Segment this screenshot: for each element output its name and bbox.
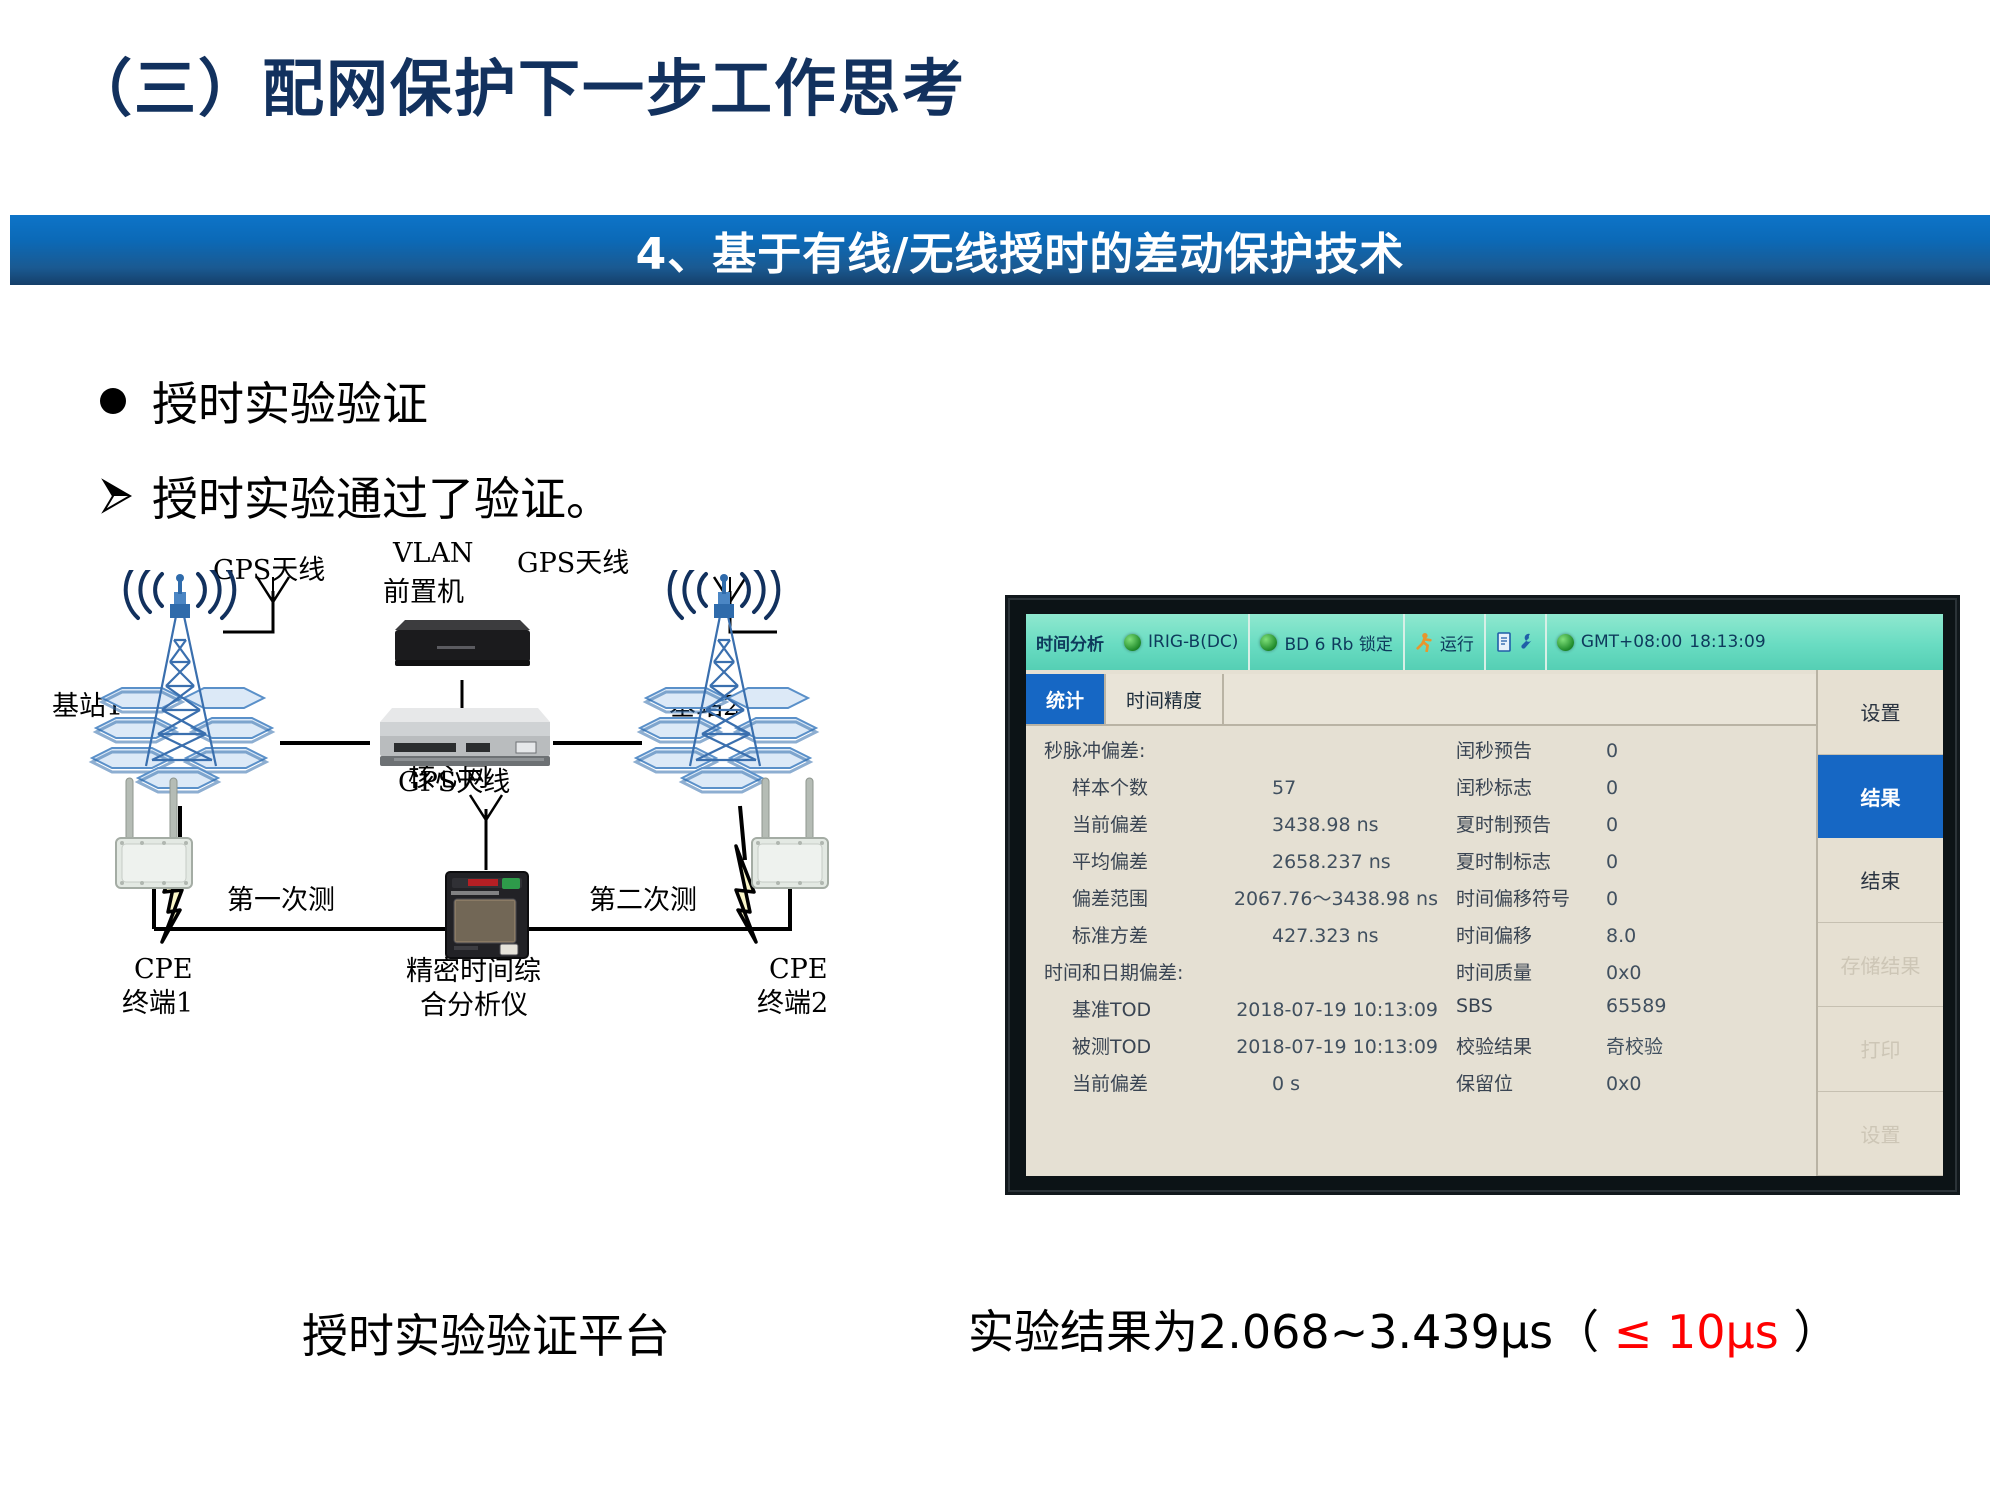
field-key: 夏时制预告 (1456, 810, 1606, 837)
label-vlan-front-end-line2: 前置机 (383, 577, 464, 609)
label-measure-2: 第二次测 (589, 885, 697, 917)
label-cpe-1-line2: 终端1 (122, 988, 193, 1020)
sidebar-button-settings-2[interactable]: 设置 (1818, 1092, 1943, 1177)
statusbar-timezone-label: GMT+08:00 (1581, 632, 1682, 652)
field-row: 时间和日期偏差: (1038, 958, 1438, 995)
label-cpe-1-line1: CPE (134, 954, 193, 986)
label-analyzer-line2: 合分析仪 (420, 990, 528, 1022)
field-key: 时间质量 (1456, 958, 1606, 985)
field-key: 秒脉冲偏差: (1038, 736, 1244, 763)
field-row: SBS 65589 (1456, 995, 1816, 1032)
field-key: 当前偏差 (1038, 1069, 1272, 1096)
cpe-terminal-2-icon (744, 772, 844, 892)
section-banner-text: 4、基于有线/无线授时的差动保护技术 (636, 218, 1405, 282)
field-row: 时间偏移 8.0 (1456, 921, 1816, 958)
sidebar-button-save-results[interactable]: 存储结果 (1818, 923, 1943, 1008)
timing-test-platform-diagram: GPS天线 GPS天线 VLAN 前置机 核心网 基站1 基站2 GPS天线 C… (30, 560, 970, 1300)
field-value: 奇校验 (1606, 1032, 1663, 1059)
document-icon[interactable] (1496, 632, 1512, 652)
clock-led-icon (1557, 634, 1574, 651)
caption-right: 实验结果为2.068~3.439μs（ ≤ 10μs ） (968, 1296, 1839, 1362)
section-banner: 4、基于有线/无线授时的差动保护技术 (10, 215, 1990, 285)
field-key: 保留位 (1456, 1069, 1606, 1096)
field-value: 3438.98 ns (1272, 814, 1379, 836)
field-value: 2018-07-19 10:13:09 (1236, 999, 1438, 1021)
field-value: 0 (1606, 851, 1618, 873)
tab-statistics[interactable]: 统计 (1026, 674, 1106, 724)
statusbar-source-cell: BD 6 Rb 锁定 (1250, 614, 1404, 670)
instrument-tabs: 统计 时间精度 (1026, 674, 1816, 726)
arrow-bullet-icon (100, 478, 152, 514)
caption-right-highlight: ≤ 10μs (1614, 1305, 1779, 1359)
field-key: 平均偏差 (1038, 847, 1272, 874)
field-value: 0x0 (1606, 1073, 1641, 1095)
field-value: 57 (1272, 777, 1296, 799)
cpe-terminal-1-icon (108, 772, 208, 892)
field-row: 标准方差 427.323 ns (1038, 921, 1438, 958)
field-row: 基准TOD 2018-07-19 10:13:09 (1038, 995, 1438, 1032)
field-row: 偏差范围 2067.76～3438.98 ns (1038, 884, 1438, 921)
field-value: 0 (1606, 777, 1618, 799)
statusbar-signal-cell: IRIG-B(DC) (1114, 614, 1250, 670)
tab-time-accuracy[interactable]: 时间精度 (1106, 674, 1224, 724)
field-value: 0 (1606, 740, 1618, 762)
field-key: 基准TOD (1038, 995, 1236, 1022)
label-cpe-2-line1: CPE (769, 954, 828, 986)
field-key: SBS (1456, 995, 1606, 1017)
field-value: 0 s (1272, 1073, 1300, 1095)
field-value: 8.0 (1606, 925, 1636, 947)
field-value: 65589 (1606, 995, 1666, 1017)
dot-bullet-icon (100, 388, 152, 414)
instrument-statusbar: 时间分析 IRIG-B(DC) BD 6 Rb 锁定 运行 (1026, 614, 1943, 670)
instrument-photo: 时间分析 IRIG-B(DC) BD 6 Rb 锁定 运行 (1005, 595, 1960, 1195)
field-value: 427.323 ns (1272, 925, 1379, 947)
tab-filler (1224, 674, 1816, 724)
bullet-item-1: 授时实验验证 (100, 368, 428, 434)
field-key: 被测TOD (1038, 1032, 1236, 1059)
wrench-icon[interactable] (1519, 632, 1535, 652)
field-value: 2658.237 ns (1272, 851, 1391, 873)
field-row: 夏时制标志 0 (1456, 847, 1816, 884)
caption-left: 授时实验验证平台 (302, 1300, 670, 1366)
field-key: 闰秒预告 (1456, 736, 1606, 763)
field-row: 保留位 0x0 (1456, 1069, 1816, 1106)
label-measure-1: 第一次测 (227, 885, 335, 917)
bullet-item-1-label: 授时实验验证 (152, 368, 428, 434)
running-person-icon (1415, 632, 1433, 652)
instrument-panel: 统计 时间精度 秒脉冲偏差: 样本个数 57 (1026, 670, 1943, 1176)
precision-time-analyzer-icon (442, 868, 534, 964)
field-row: 样本个数 57 (1038, 773, 1438, 810)
label-gps-antenna-right: GPS天线 (517, 548, 629, 580)
field-key: 时间和日期偏差: (1038, 958, 1244, 985)
statusbar-signal-label: IRIG-B(DC) (1148, 632, 1238, 652)
sidebar-button-results[interactable]: 结果 (1818, 755, 1943, 839)
instrument-screen: 时间分析 IRIG-B(DC) BD 6 Rb 锁定 运行 (1026, 614, 1943, 1176)
field-key: 偏差范围 (1038, 884, 1234, 911)
field-row: 校验结果 奇校验 (1456, 1032, 1816, 1069)
caption-right-suffix: ） (1779, 1305, 1840, 1359)
field-row: 平均偏差 2658.237 ns (1038, 847, 1438, 884)
statusbar-icons-cell (1486, 614, 1547, 670)
field-key: 标准方差 (1038, 921, 1272, 948)
instrument-sidebar: 设置 结果 结束 存储结果 打印 设置 (1818, 670, 1943, 1176)
field-key: 闰秒标志 (1456, 773, 1606, 800)
source-led-icon (1260, 634, 1277, 651)
field-value: 2067.76～3438.98 ns (1234, 884, 1438, 911)
field-column-left: 秒脉冲偏差: 样本个数 57 当前偏差 3438.98 ns 平均偏差 (1026, 730, 1438, 1176)
field-row: 夏时制预告 0 (1456, 810, 1816, 847)
field-row: 被测TOD 2018-07-19 10:13:09 (1038, 1032, 1438, 1069)
label-cpe-2-line2: 终端2 (757, 988, 828, 1020)
field-key: 夏时制标志 (1456, 847, 1606, 874)
page-title: （三）配网保护下一步工作思考 (70, 38, 966, 128)
field-row: 秒脉冲偏差: (1038, 736, 1438, 773)
field-value: 0 (1606, 814, 1618, 836)
sidebar-button-print[interactable]: 打印 (1818, 1007, 1943, 1092)
field-key: 时间偏移 (1456, 921, 1606, 948)
field-row: 当前偏差 3438.98 ns (1038, 810, 1438, 847)
signal-led-icon (1124, 634, 1141, 651)
field-key: 当前偏差 (1038, 810, 1272, 837)
field-value: 0x0 (1606, 962, 1641, 984)
field-row: 时间质量 0x0 (1456, 958, 1816, 995)
vlan-front-end-device-icon (385, 618, 540, 682)
field-key: 校验结果 (1456, 1032, 1606, 1059)
caption-right-prefix: 实验结果为2.068~3.439μs（ (968, 1305, 1614, 1359)
statusbar-source-label: BD 6 Rb 锁定 (1284, 630, 1392, 655)
bullet-item-2-label: 授时实验通过了验证。 (152, 463, 612, 529)
field-row: 时间偏移符号 0 (1456, 884, 1816, 921)
instrument-fields: 秒脉冲偏差: 样本个数 57 当前偏差 3438.98 ns 平均偏差 (1026, 730, 1816, 1176)
statusbar-clock-cell: GMT+08:00 18:13:09 (1547, 614, 1776, 670)
field-key: 时间偏移符号 (1456, 884, 1606, 911)
field-value: 0 (1606, 888, 1618, 910)
bullet-item-2: 授时实验通过了验证。 (100, 463, 612, 529)
field-column-right: 闰秒预告 0 闰秒标志 0 夏时制预告 0 夏时制标志 (1438, 730, 1816, 1176)
label-vlan-front-end-line1: VLAN (393, 538, 474, 570)
statusbar-state-label: 运行 (1440, 630, 1474, 655)
statusbar-state-cell: 运行 (1405, 614, 1486, 670)
field-row: 闰秒标志 0 (1456, 773, 1816, 810)
sidebar-button-finish[interactable]: 结束 (1818, 838, 1943, 923)
sidebar-button-settings[interactable]: 设置 (1818, 670, 1943, 755)
field-value: 2018-07-19 10:13:09 (1236, 1036, 1438, 1058)
instrument-content: 统计 时间精度 秒脉冲偏差: 样本个数 57 (1026, 670, 1818, 1176)
field-row: 闰秒预告 0 (1456, 736, 1816, 773)
field-row: 当前偏差 0 s (1038, 1069, 1438, 1106)
statusbar-title: 时间分析 (1026, 614, 1114, 670)
statusbar-clock-label: 18:13:09 (1689, 632, 1765, 652)
core-network-switch-icon (370, 706, 560, 778)
field-key: 样本个数 (1038, 773, 1272, 800)
